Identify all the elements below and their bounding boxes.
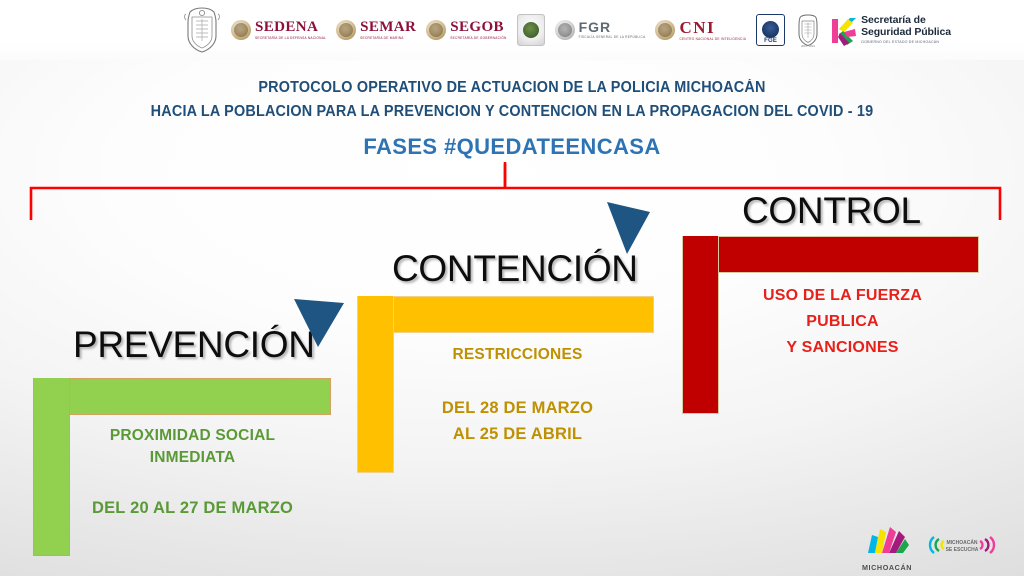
phase-bar-control-arm xyxy=(682,236,979,273)
fgr-subtitle: FISCALÍA GENERAL DE LA REPÚBLICA xyxy=(579,36,646,39)
title-line-1: PROTOCOLO OPERATIVO DE ACTUACION DE LA P… xyxy=(36,76,988,100)
semar-wordmark: SEMAR xyxy=(360,20,416,35)
phase-heading-control: CONTROL xyxy=(742,190,921,232)
title-block: PROTOCOLO OPERATIVO DE ACTUACION DE LA P… xyxy=(0,76,1024,124)
svg-text:SE ESCUCHA: SE ESCUCHA xyxy=(946,547,979,553)
fge-badge-icon: FGE xyxy=(756,14,785,46)
semar-logo: SEMAR SECRETARÍA DE MARINA xyxy=(336,20,416,40)
sedena-seal-icon xyxy=(231,20,251,40)
cni-subtitle: CENTRO NACIONAL DE INTELIGENCIA xyxy=(679,38,746,41)
segob-wordmark: SEGOB xyxy=(450,20,506,35)
title-line-2: HACIA LA POBLACION PARA LA PREVENCION Y … xyxy=(36,100,988,124)
michoacan-crest-icon xyxy=(183,6,221,54)
footer-logos: MICHOACÁN MICHOACÁN SE ESCUCHA xyxy=(858,522,1018,572)
guardia-nacional-logo xyxy=(517,14,545,46)
ssp-line3: GOBIERNO DEL ESTADO DE MICHOACÁN xyxy=(861,41,951,45)
cni-wordmark: CNI xyxy=(679,19,746,36)
phase-text-prevencion-1: PROXIMIDAD SOCIAL INMEDIATA xyxy=(60,425,325,469)
segob-logo: SEGOB SECRETARÍA DE GOBERNACIÓN xyxy=(426,20,506,40)
phase-bar-contencion-arm xyxy=(357,296,654,333)
fgr-logo: FGR FISCALÍA GENERAL DE LA REPÚBLICA xyxy=(555,20,646,40)
phase-bar-prevencion-arm xyxy=(33,378,331,415)
michoacan-crest-small-icon: 2015 - 2021 xyxy=(795,13,821,47)
cni-seal-icon xyxy=(655,20,675,40)
michoacan-logo-wordmark: MICHOACÁN xyxy=(858,563,916,572)
subtitle-hashtag: FASES #QUEDATEENCASA xyxy=(0,134,1024,160)
secretaria-seguridad-publica-logo: Secretaría de Seguridad Pública GOBIERNO… xyxy=(831,15,951,45)
segob-subtitle: SECRETARÍA DE GOBERNACIÓN xyxy=(450,37,506,40)
phase-text-control-1: USO DE LA FUERZA PUBLICA Y SANCIONES xyxy=(710,283,975,361)
institutional-logo-bar: SEDENA SECRETARÍA DE LA DEFENSA NACIONAL… xyxy=(0,0,1024,60)
fge-label: FGE xyxy=(764,38,777,44)
phase-text-contencion-1: RESTRICCIONES xyxy=(385,344,650,366)
fgr-wordmark: FGR xyxy=(579,20,646,34)
semar-seal-icon xyxy=(336,20,356,40)
phase-heading-prevencion: PREVENCIÓN xyxy=(73,324,315,366)
phase-heading-contencion: CONTENCIÓN xyxy=(392,248,638,290)
michoacan-crest-2-logo: 2015 - 2021 xyxy=(795,13,821,47)
svg-text:2015 - 2021: 2015 - 2021 xyxy=(801,44,815,47)
michoacan-state-crest-logo xyxy=(183,6,221,54)
sedena-subtitle: SECRETARÍA DE LA DEFENSA NACIONAL xyxy=(255,37,326,40)
fge-logo: FGE xyxy=(756,14,785,46)
slide-canvas: SEDENA SECRETARÍA DE LA DEFENSA NACIONAL… xyxy=(0,0,1024,576)
michoacan-gov-logo: MICHOACÁN xyxy=(858,523,916,572)
phase-text-prevencion-2: DEL 20 AL 27 DE MARZO xyxy=(60,497,325,519)
svg-text:MICHOACÁN: MICHOACÁN xyxy=(946,539,977,546)
phase-text-contencion-2: DEL 28 DE MARZO AL 25 DE ABRIL xyxy=(385,395,650,447)
semar-subtitle: SECRETARÍA DE MARINA xyxy=(360,37,416,40)
blue-triangle-marker-1 xyxy=(292,297,348,360)
fgr-seal-icon xyxy=(555,20,575,40)
michoacan-se-escucha-logo: MICHOACÁN SE ESCUCHA xyxy=(926,532,998,563)
sedena-wordmark: SEDENA xyxy=(255,20,326,35)
k-colorful-icon xyxy=(831,15,857,45)
cni-logo: CNI CENTRO NACIONAL DE INTELIGENCIA xyxy=(655,19,746,41)
eagle-badge-icon xyxy=(517,14,545,46)
ssp-line2: Seguridad Pública xyxy=(861,27,951,39)
sedena-logo: SEDENA SECRETARÍA DE LA DEFENSA NACIONAL xyxy=(231,20,326,40)
segob-seal-icon xyxy=(426,20,446,40)
blue-triangle-marker-2 xyxy=(604,198,654,263)
